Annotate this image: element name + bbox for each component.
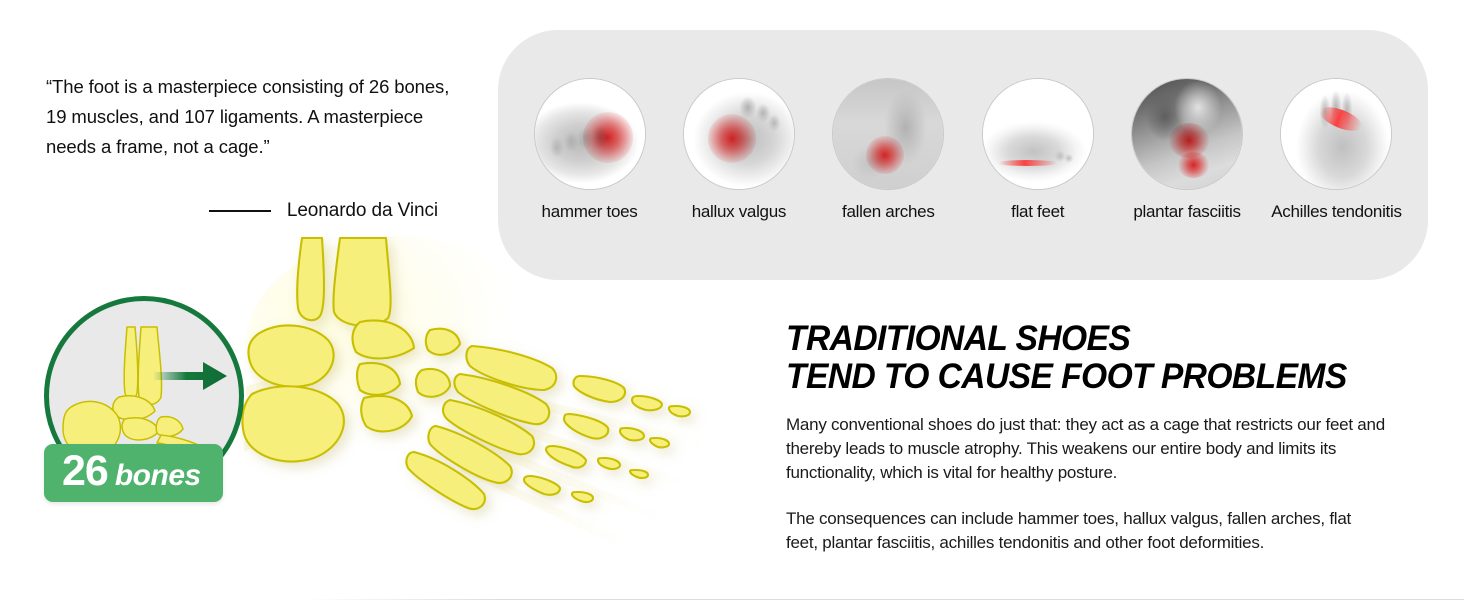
quote-text: “The foot is a masterpiece consisting of… [46,72,466,162]
bones-count: 26 [62,450,108,493]
condition-label: fallen arches [842,202,935,222]
bones-count-badge: 26 bones [44,444,223,502]
plantar-fasciitis-photo [1131,78,1243,190]
condition-label: hammer toes [542,202,638,222]
achilles-tendonitis-photo [1280,78,1392,190]
condition-item-hammer-toes[interactable]: hammer toes [516,78,663,222]
exploded-foot-bones-illustration [236,236,776,566]
condition-label: Achilles tendonitis [1271,202,1401,222]
arrow-right-icon [153,359,229,393]
headline-line-2: TEND TO CAUSE FOOT PROBLEMS [786,358,1362,396]
fallen-arches-photo [832,78,944,190]
right-column: TRADITIONAL SHOES TEND TO CAUSE FOOT PRO… [786,320,1386,572]
quote-block: “The foot is a masterpiece consisting of… [46,72,466,222]
condition-item-plantar-fasciitis[interactable]: plantar fasciitis [1114,78,1261,222]
hammer-toes-photo [534,78,646,190]
headline-line-1: TRADITIONAL SHOES [786,320,1362,358]
condition-item-hallux-valgus[interactable]: hallux valgus [665,78,812,222]
bones-callout: 26 bones [44,296,254,501]
attribution-name: Leonardo da Vinci [287,200,438,222]
bones-word: bones [115,461,201,491]
condition-item-flat-feet[interactable]: flat feet [964,78,1111,222]
flat-feet-photo [982,78,1094,190]
body-paragraph-2: The consequences can include hammer toes… [786,507,1386,555]
condition-label: hallux valgus [692,202,786,222]
condition-label: flat feet [1011,202,1064,222]
condition-item-achilles-tendonitis[interactable]: Achilles tendonitis [1263,78,1410,222]
hallux-valgus-photo [683,78,795,190]
condition-label: plantar fasciitis [1133,202,1240,222]
attribution: Leonardo da Vinci [46,200,466,222]
attribution-rule [209,210,271,212]
body-copy: Many conventional shoes do just that: th… [786,413,1386,555]
headline: TRADITIONAL SHOES TEND TO CAUSE FOOT PRO… [786,320,1362,396]
condition-item-fallen-arches[interactable]: fallen arches [815,78,962,222]
body-paragraph-1: Many conventional shoes do just that: th… [786,413,1386,485]
infographic-canvas: “The foot is a masterpiece consisting of… [0,0,1464,600]
